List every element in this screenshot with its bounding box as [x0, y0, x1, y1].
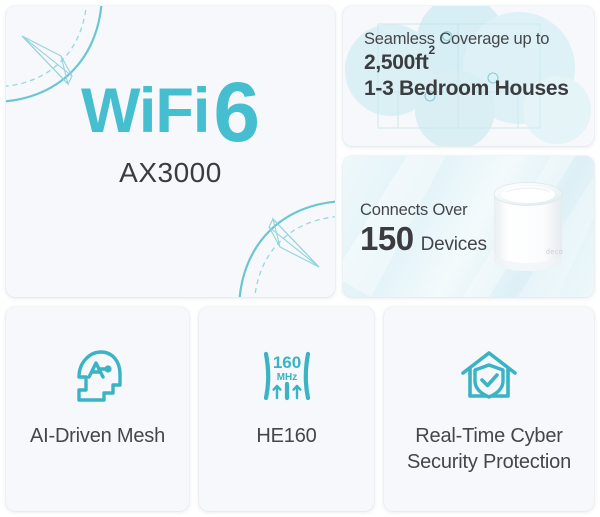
coverage-area-value: 2,500ft2	[364, 49, 586, 76]
coverage-area-superscript: 2	[428, 43, 434, 57]
hero-wifi-line: WiFi 6	[6, 72, 335, 143]
feature-label-1: HE160	[199, 423, 374, 449]
ai-head-icon	[6, 345, 189, 407]
feature-label-2: Real-Time Cyber Security Protection	[384, 423, 594, 476]
devices-card: deco Connects Over 150 Devices	[343, 156, 594, 297]
coverage-area-number: 2,500ft	[364, 51, 428, 74]
svg-text:deco: deco	[546, 249, 563, 256]
feature-card-he160: 160 MHz HE160	[199, 307, 374, 511]
house-shield-check-icon	[384, 345, 594, 407]
devices-count-value: 150	[360, 222, 414, 255]
coverage-card: Seamless Coverage up to 2,500ft2 1-3 Bed…	[343, 6, 594, 146]
bandwidth-unit: MHz	[276, 372, 297, 383]
feature-card-cyber-security: Real-Time Cyber Security Protection	[384, 307, 594, 511]
coverage-headline: Seamless Coverage up to	[364, 30, 586, 49]
feature-card-ai-driven-mesh: AI-Driven Mesh	[6, 307, 189, 511]
feature-highlights-page: WiFi 6 AX3000	[0, 0, 600, 517]
coverage-house-size: 1-3 Bedroom Houses	[364, 76, 586, 102]
feature-label-0: AI-Driven Mesh	[6, 423, 189, 449]
devices-count-line: 150 Devices	[360, 222, 487, 256]
devices-count-unit: Devices	[421, 234, 487, 256]
hero-wifi-label: WiFi	[81, 80, 209, 143]
devices-text-block: Connects Over 150 Devices	[360, 201, 487, 256]
hero-card-wifi6: WiFi 6 AX3000	[6, 6, 335, 297]
hero-text-block: WiFi 6 AX3000	[6, 72, 335, 189]
hero-model-label: AX3000	[6, 157, 335, 189]
mesh-router-device-image: deco	[476, 172, 580, 282]
hero-wifi-generation: 6	[213, 77, 260, 148]
coverage-text-block: Seamless Coverage up to 2,500ft2 1-3 Bed…	[364, 30, 586, 103]
bandwidth-value: 160	[272, 353, 300, 372]
devices-headline: Connects Over	[360, 201, 487, 219]
bandwidth-160mhz-icon: 160 MHz	[199, 345, 374, 407]
